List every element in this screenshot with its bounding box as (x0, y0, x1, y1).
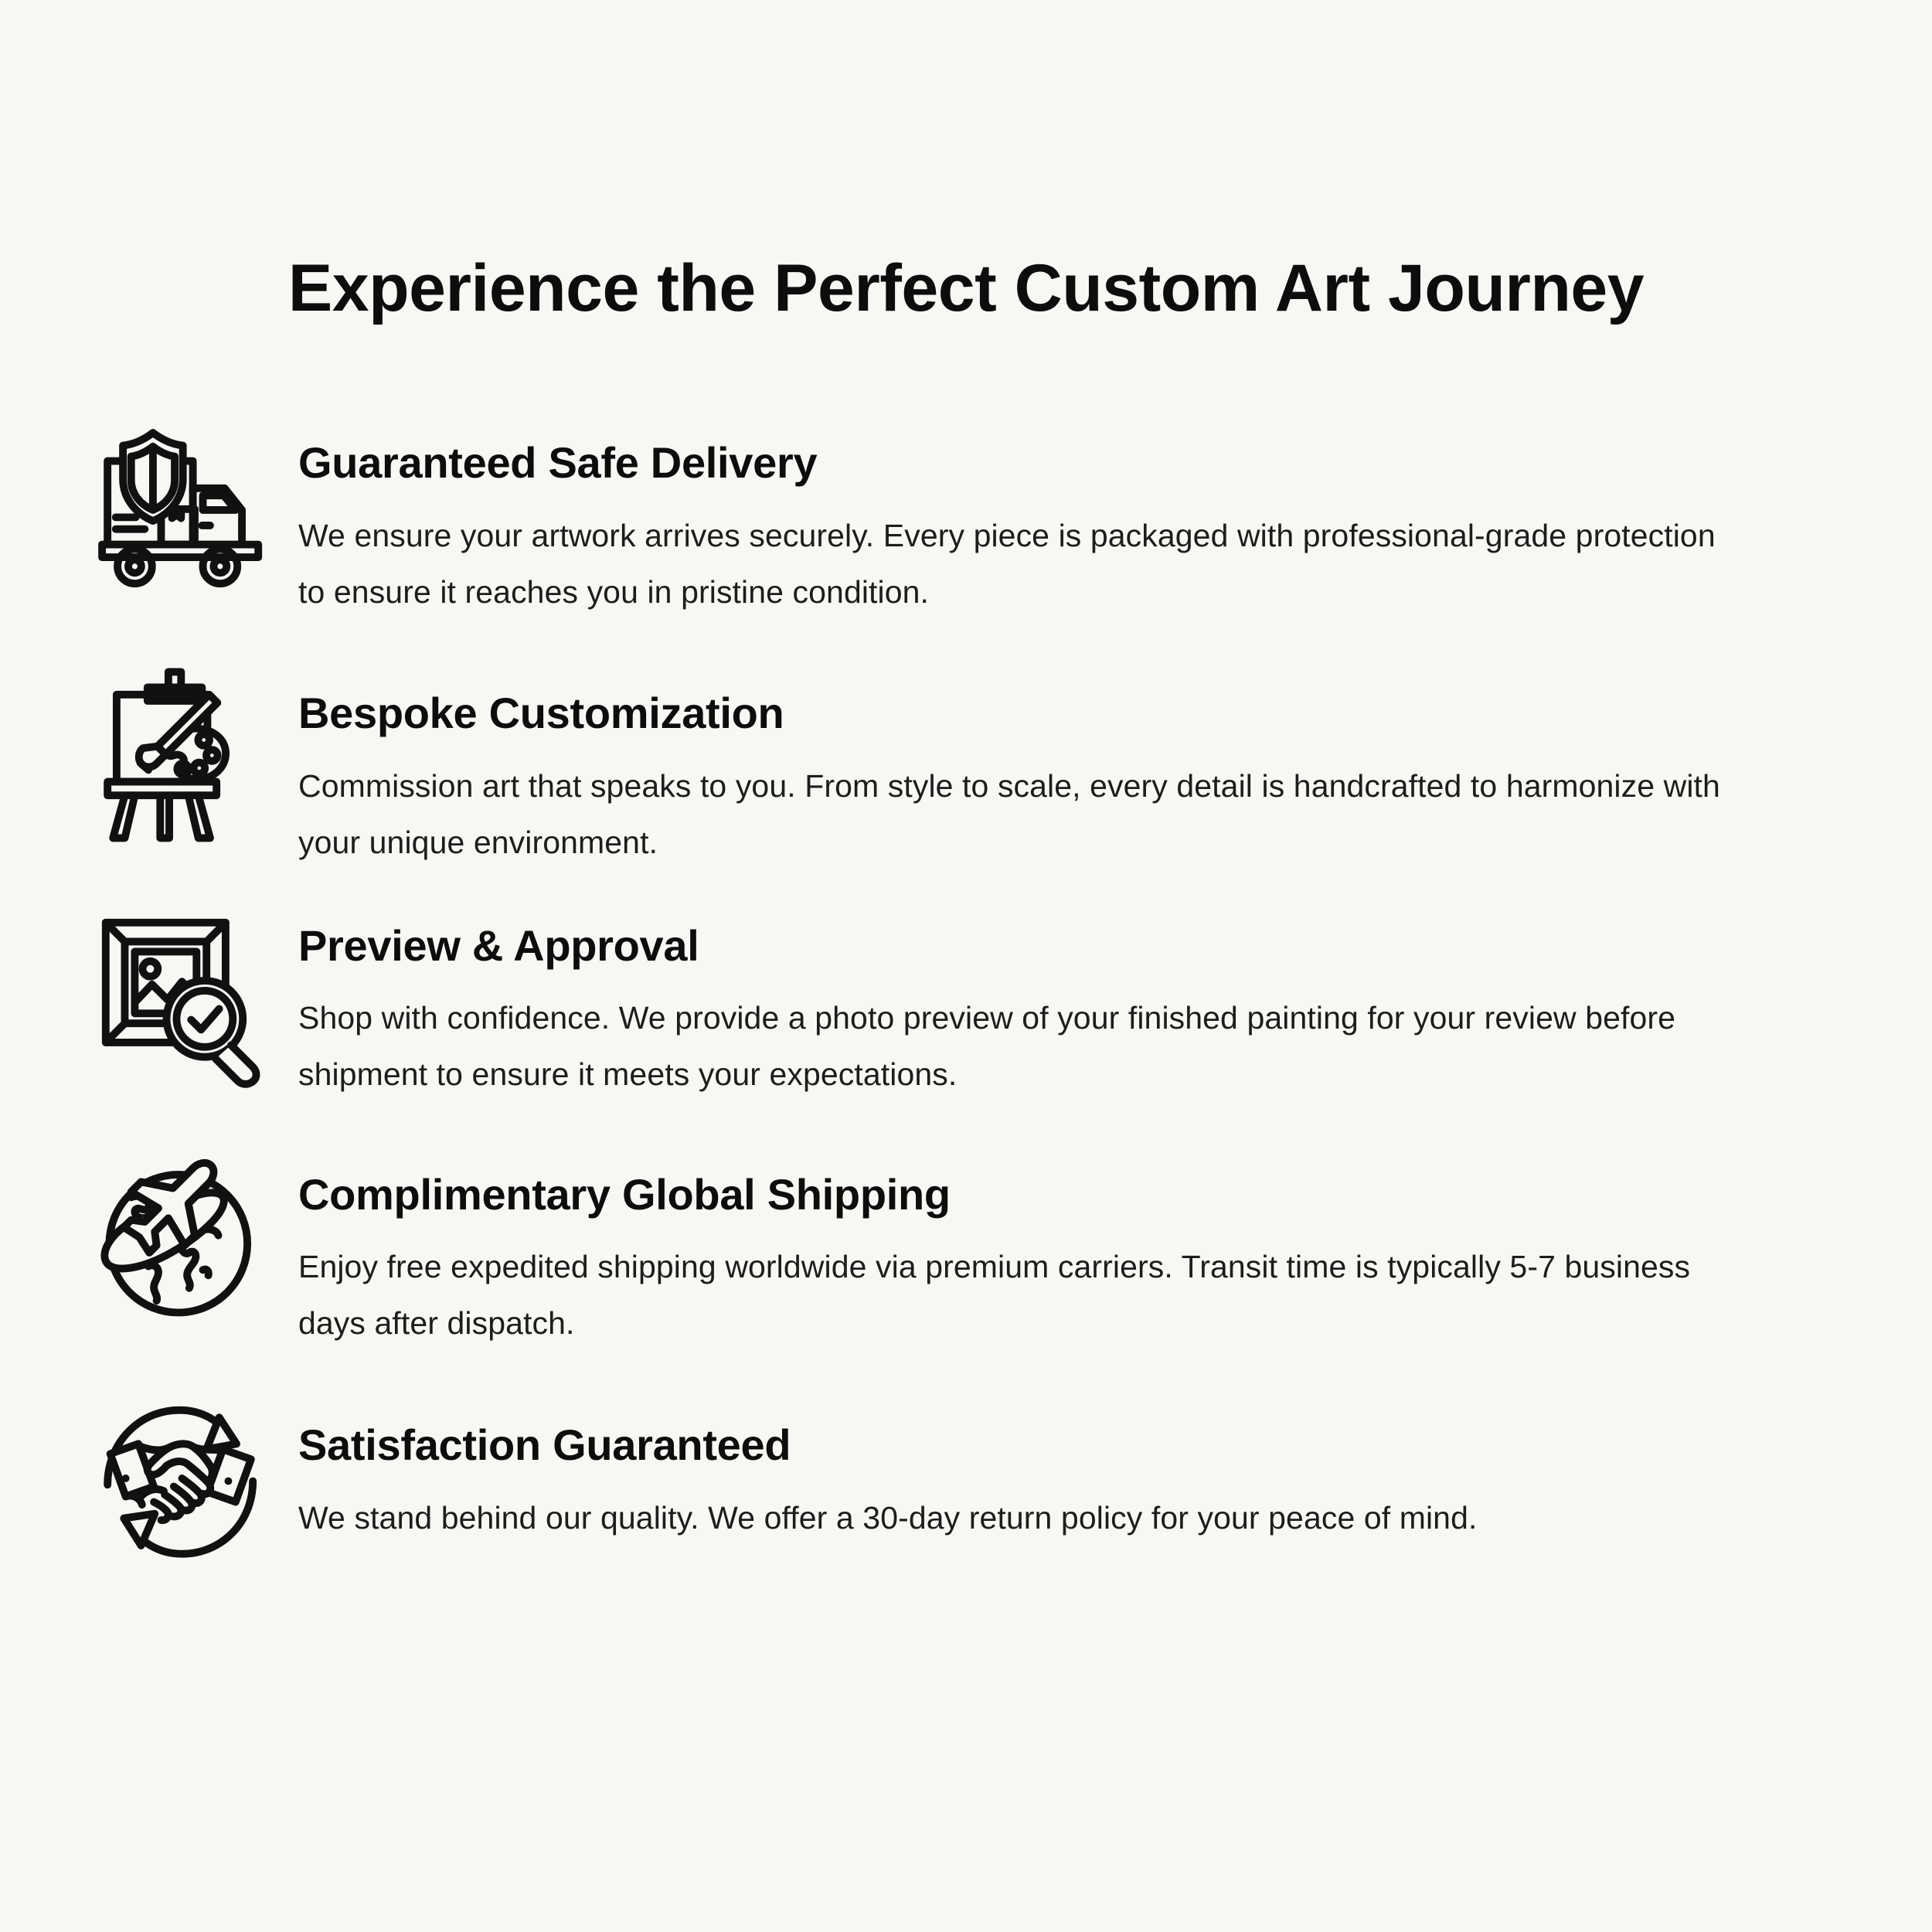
feature-item-safe-delivery: Guaranteed Safe Delivery We ensure your … (0, 417, 1932, 624)
feature-item-preview-approval: Preview & Approval Shop with confidence.… (0, 903, 1932, 1111)
custom-art-journey-section: Experience the Perfect Custom Art Journe… (0, 0, 1932, 1932)
feature-text-block: Guaranteed Safe Delivery We ensure your … (298, 417, 1932, 621)
feature-heading: Bespoke Customization (298, 689, 1735, 738)
feature-text-block: Complimentary Global Shipping Enjoy free… (298, 1145, 1932, 1352)
feature-description: Enjoy free expedited shipping worldwide … (298, 1239, 1735, 1352)
feature-text-block: Preview & Approval Shop with confidence.… (298, 903, 1932, 1104)
framed-picture-magnifier-check-icon (91, 903, 298, 1111)
feature-list: Guaranteed Safe Delivery We ensure your … (0, 417, 1932, 1593)
feature-item-satisfaction-guaranteed: Satisfaction Guaranteed We stand behind … (0, 1386, 1932, 1593)
feature-heading: Preview & Approval (298, 922, 1735, 971)
feature-heading: Complimentary Global Shipping (298, 1171, 1735, 1219)
feature-heading: Guaranteed Safe Delivery (298, 439, 1735, 488)
delivery-truck-shield-icon (91, 417, 298, 624)
globe-airplane-icon (91, 1145, 298, 1352)
feature-description: Commission art that speaks to you. From … (298, 758, 1735, 871)
feature-heading: Satisfaction Guaranteed (298, 1421, 1735, 1470)
feature-description: Shop with confidence. We provide a photo… (298, 990, 1735, 1103)
easel-paintbrush-palette-icon (91, 660, 298, 867)
feature-text-block: Bespoke Customization Commission art tha… (298, 660, 1932, 871)
feature-item-global-shipping: Complimentary Global Shipping Enjoy free… (0, 1145, 1932, 1352)
feature-description: We ensure your artwork arrives securely.… (298, 508, 1735, 621)
feature-item-bespoke-customization: Bespoke Customization Commission art tha… (0, 660, 1932, 871)
handshake-return-arrows-icon (91, 1386, 298, 1593)
feature-text-block: Satisfaction Guaranteed We stand behind … (298, 1386, 1932, 1546)
feature-description: We stand behind our quality. We offer a … (298, 1490, 1735, 1546)
page-title: Experience the Perfect Custom Art Journe… (0, 252, 1932, 325)
